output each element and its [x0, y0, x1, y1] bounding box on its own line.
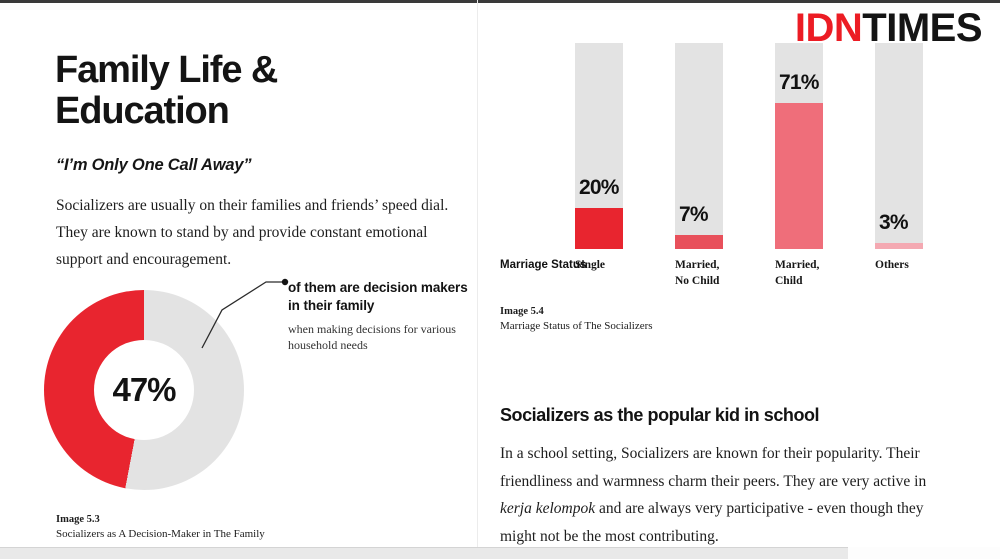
idn-times-watermark: IDNTIMES [795, 8, 982, 48]
page-title: Family Life & Education [55, 50, 455, 132]
watermark-brand: IDN [795, 6, 862, 50]
bar-value-label: 20% [579, 176, 659, 200]
donut-value-label: 47% [94, 340, 194, 440]
callout-subtitle: when making decisions for various househ… [288, 321, 470, 354]
bar-chart-axis-labels: Marriage Status SingleMarried,No ChildMa… [478, 258, 998, 294]
caption-text: Socializers as A Decision-Maker in The F… [56, 527, 386, 542]
callout-title: of them are decision makers in their fam… [288, 279, 470, 315]
left-column: Family Life & Education “I’m Only One Ca… [0, 0, 477, 547]
intro-paragraph: Socializers are usually on their familie… [56, 192, 456, 273]
school-paragraph-italic: kerja kelompok [500, 500, 595, 517]
caption-text: Marriage Status of The Socializers [500, 319, 830, 334]
watermark-suffix: TIMES [862, 6, 982, 50]
school-paragraph-part1: In a school setting, Socializers are kno… [500, 445, 926, 490]
caption-label: Image 5.4 [500, 305, 830, 319]
right-column: 20%7%71%3% Marriage Status SingleMarried… [478, 0, 1000, 547]
school-paragraph: In a school setting, Socializers are kno… [500, 440, 952, 550]
donut-callout: of them are decision makers in their fam… [288, 279, 470, 354]
bar-fill [575, 208, 623, 249]
bar-fill [675, 235, 723, 249]
school-section-heading: Socializers as the popular kid in school [500, 405, 970, 426]
bar-value-label: 7% [679, 203, 759, 227]
bar-fill [875, 243, 923, 249]
bar-column [575, 43, 623, 249]
axis-tick-label: Married,No Child [675, 258, 767, 289]
section-subtitle: “I’m Only One Call Away” [56, 156, 456, 175]
axis-tick-label: Others [875, 258, 967, 274]
bar-value-label: 71% [779, 71, 859, 95]
bar-fill [775, 103, 823, 249]
axis-tick-label: Single [575, 258, 667, 274]
image-5-4-caption: Image 5.4 Marriage Status of The Sociali… [500, 305, 830, 335]
axis-tick-label: Married,Child [775, 258, 867, 289]
bar-value-label: 3% [879, 211, 959, 235]
marriage-status-bar-chart: 20%7%71%3% [500, 43, 978, 249]
page-bottom-strip-right [848, 547, 1000, 559]
image-5-3-caption: Image 5.3 Socializers as A Decision-Make… [56, 513, 386, 543]
decision-maker-donut-chart: 47% [44, 290, 259, 490]
caption-label: Image 5.3 [56, 513, 386, 527]
